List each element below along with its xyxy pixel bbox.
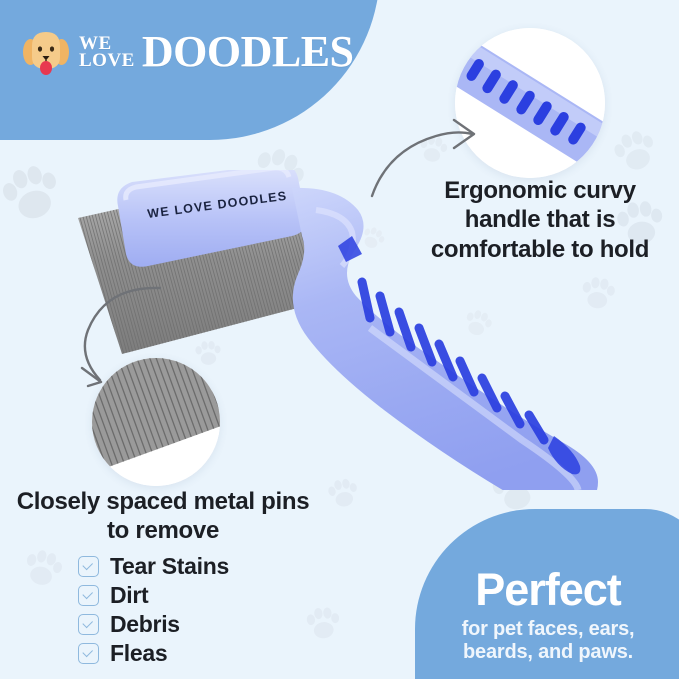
checkbox-checked-icon[interactable] [78, 556, 99, 577]
list-item[interactable]: Dirt [78, 582, 229, 609]
checkbox-checked-icon[interactable] [78, 614, 99, 635]
logo-doodles: DOODLES [142, 32, 354, 72]
list-item[interactable]: Debris [78, 611, 229, 638]
list-item-label: Dirt [110, 584, 148, 607]
magnifier-circle-pins [92, 358, 220, 486]
list-item[interactable]: Tear Stains [78, 553, 229, 580]
paw-print-icon [0, 150, 74, 237]
ergonomic-callout-text: Ergonomic curvy handle that is comfortab… [404, 176, 676, 264]
dog-face-icon [22, 26, 70, 78]
checkbox-checked-icon[interactable] [78, 643, 99, 664]
logo-wordmark: WE LOVE DOODLES [79, 32, 354, 72]
list-item[interactable]: Fleas [78, 640, 229, 667]
list-item-label: Tear Stains [110, 555, 229, 578]
list-item-label: Fleas [110, 642, 167, 665]
list-item-label: Debris [110, 613, 180, 636]
logo-we-love: WE LOVE [79, 35, 135, 70]
checkbox-checked-icon[interactable] [78, 585, 99, 606]
removal-checklist: Tear Stains Dirt Debris Fleas [78, 553, 229, 667]
perfect-panel: Perfect for pet faces, ears, beards, and… [423, 567, 673, 665]
brand-logo: WE LOVE DOODLES [22, 26, 354, 78]
paw-print-icon [15, 540, 71, 596]
logo-line-love: LOVE [79, 52, 135, 69]
product-infographic: WE LOVE DOODLES [0, 0, 679, 679]
perfect-title: Perfect [423, 567, 673, 612]
magnifier-circle-handle [455, 28, 605, 178]
perfect-subtitle-line1: for pet faces, ears, [423, 618, 673, 642]
paw-print-icon [300, 600, 346, 646]
paw-print-icon [413, 129, 453, 169]
perfect-subtitle: for pet faces, ears, beards, and paws. [423, 618, 673, 665]
pins-callout-text: Closely spaced metal pins to remove [8, 487, 318, 546]
perfect-subtitle-line2: beards, and paws. [423, 641, 673, 665]
